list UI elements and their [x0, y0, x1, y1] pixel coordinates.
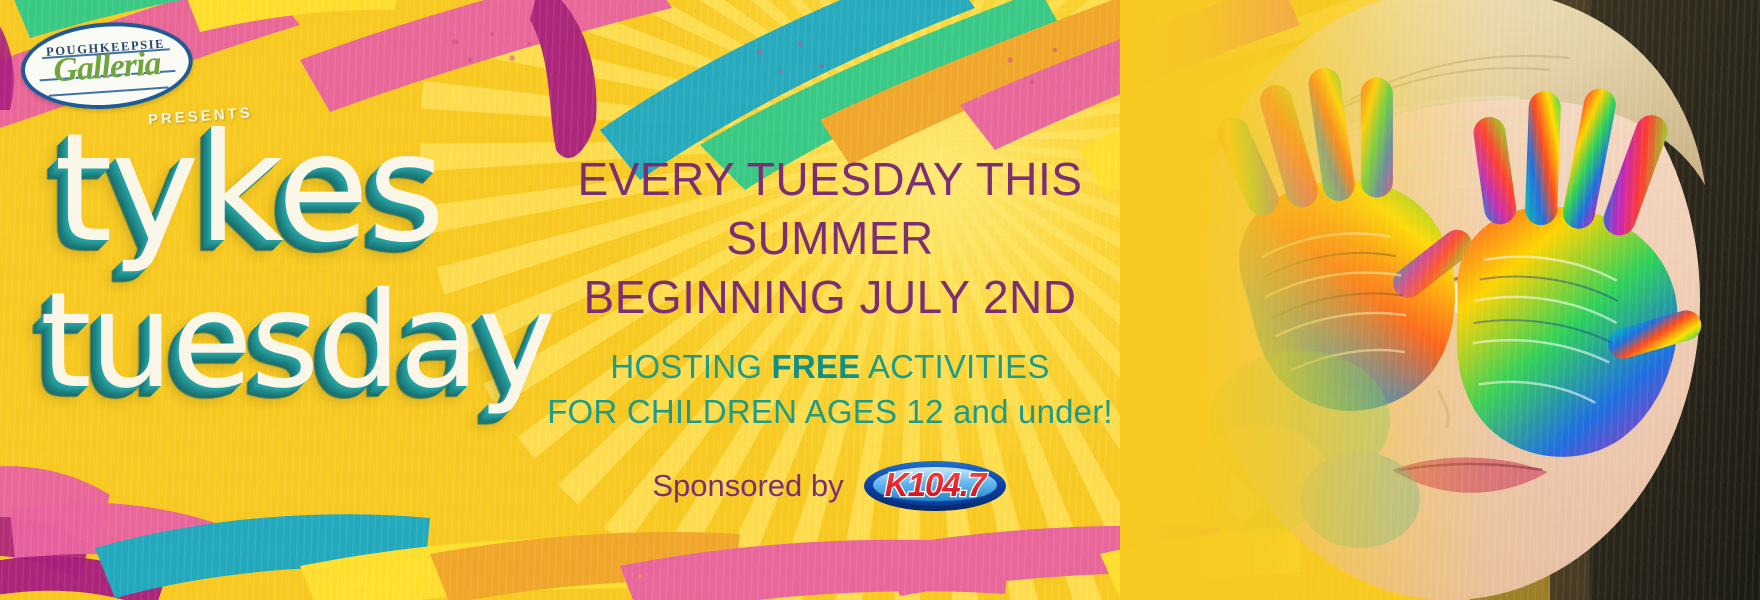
child-with-painted-hands-photo — [1120, 0, 1760, 600]
subhead-line-1: HOSTING FREE ACTIVITIES — [470, 345, 1190, 389]
subhead-activities-text: ACTIVITIES — [860, 348, 1049, 385]
subhead-free-emphasis: FREE — [772, 348, 861, 385]
k104-7-brand-text: K104.7 — [884, 466, 987, 503]
promo-copy-block: EVERY TUESDAY THIS SUMMER BEGINNING JULY… — [470, 150, 1190, 514]
subhead-line-2: FOR CHILDREN AGES 12 and under! — [470, 390, 1190, 434]
k104-7-radio-logo[interactable]: K104.7 — [862, 458, 1008, 514]
sponsor-row: Sponsored by — [470, 458, 1190, 514]
headline-line-1: EVERY TUESDAY THIS SUMMER — [470, 150, 1190, 268]
headline-line-2: BEGINNING JULY 2ND — [470, 268, 1190, 327]
sponsored-by-label: Sponsored by — [652, 468, 843, 504]
promo-banner: POUGHKEEPSIE Galleria PRESENTS tykes tue… — [0, 0, 1760, 600]
subhead-hosting-text: HOSTING — [610, 348, 771, 385]
